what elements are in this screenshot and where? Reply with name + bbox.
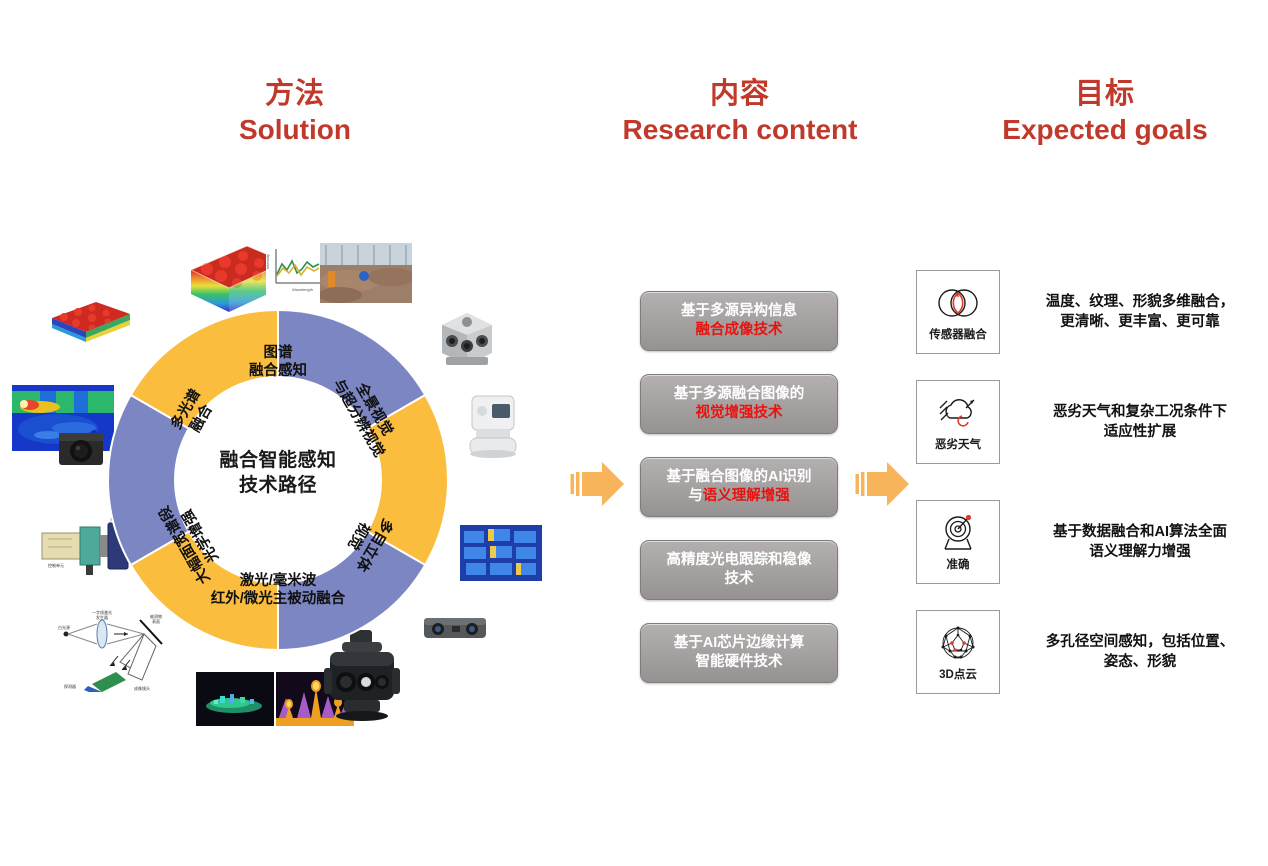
goal-text-point-cloud: 多孔径空间感知，包括位置、 姿态、形貌 [1024,632,1256,672]
goal-1-line2: 更清晰、更丰富、更可靠 [1024,312,1256,332]
research-box-4-line1: 高精度光电跟踪和稳像 [667,551,812,570]
rain-cloud-icon [936,393,980,433]
research-box-5-line1: 基于AI芯片边缘计算 [674,634,805,653]
research-box-fusion-imaging[interactable]: 基于多源异构信息 融合成像技术 [640,291,838,351]
target-dart-icon [937,513,979,553]
column-header-goals: 目标 Expected goals [955,78,1255,146]
research-box-2-line2: 视觉增强技术 [696,405,783,421]
column-header-content-en: Research content [575,114,905,146]
goal-3-line1: 基于数据融合和AI算法全面 [1024,522,1256,542]
goal-4-line2: 姿态、形貌 [1024,652,1256,672]
point-cloud-icon [937,623,979,663]
goal-icon-label-accuracy: 准确 [947,556,970,572]
goal-icon-label-bad-weather: 恶劣天气 [935,436,981,452]
research-box-tracking[interactable]: 高精度光电跟踪和稳像 技术 [640,540,838,600]
industrial-pipeline-photo [320,243,412,303]
goal-2-line2: 适应性扩展 [1024,422,1256,442]
goal-icon-card-sensor-fusion[interactable]: 传感器融合 [916,270,1000,354]
research-box-edge-computing[interactable]: 基于AI芯片边缘计算 智能硬件技术 [640,623,838,683]
column-header-content: 内容 Research content [575,78,905,146]
goal-icon-label-point-cloud: 3D点云 [939,666,977,682]
column-header-solution-en: Solution [170,114,420,146]
research-box-4-line2: 技术 [725,571,754,587]
research-box-3-line1: 基于融合图像的AI识别 [667,468,812,487]
arrow-solution-to-content [568,458,628,515]
svg-text:控制单元: 控制单元 [48,562,64,568]
goal-row-sensor-fusion: 传感器融合 温度、纹理、形貌多维融合， 更清晰、更丰富、更可靠 [916,266,1260,358]
structured-light-blue-image [460,525,542,581]
goal-row-bad-weather: 恶劣天气 恶劣天气和复杂工况条件下 适应性扩展 [916,376,1260,468]
svg-text:白光源: 白光源 [58,624,70,630]
research-box-visual-enhance[interactable]: 基于多源融合图像的 视觉增强技术 [640,374,838,434]
lidar-point-cloud-scene-image [196,672,274,726]
goal-text-sensor-fusion: 温度、纹理、形貌多维融合， 更清晰、更丰富、更可靠 [1024,292,1256,332]
donut-center-line1: 融合智能感知 [158,448,398,473]
technology-path-donut: 图谱 融合感知 全景视觉 与超分辨视觉 多目立体 视觉 激光/毫米波 红外/微光… [98,300,458,660]
arrow-content-to-goals [853,458,913,515]
goal-4-line1: 多孔径空间感知，包括位置、 [1024,632,1256,652]
research-box-ai-semantic[interactable]: 基于融合图像的AI识别 与语义理解增强 [640,457,838,517]
goal-icon-card-bad-weather[interactable]: 恶劣天气 [916,380,1000,464]
research-box-3-line2: 语义理解增强 [703,488,790,504]
column-header-goals-en: Expected goals [955,114,1255,146]
research-box-5-line2: 智能硬件技术 [696,654,783,670]
goal-1-line1: 温度、纹理、形貌多维融合， [1024,292,1256,312]
goal-icon-label-sensor-fusion: 传感器融合 [929,326,987,342]
donut-center-line2: 技术路径 [158,473,398,498]
research-box-3-line2-prefix: 与 [688,488,703,504]
column-header-goals-cn: 目标 [955,78,1255,112]
goal-text-accuracy: 基于数据融合和AI算法全面 语义理解力增强 [1024,522,1256,562]
goal-3-line2: 语义理解力增强 [1024,542,1256,562]
svg-text:探测器: 探测器 [64,683,76,689]
column-header-content-cn: 内容 [575,78,905,112]
column-header-solution-cn: 方法 [170,78,420,112]
svg-text:Wavelength: Wavelength [292,287,313,292]
svg-text:成像镜头: 成像镜头 [134,685,150,691]
goal-icon-card-accuracy[interactable]: 准确 [916,500,1000,584]
goal-2-line1: 恶劣天气和复杂工况条件下 [1024,402,1256,422]
diagram-canvas: 方法 Solution 内容 Research content 目标 Expec… [0,0,1268,866]
goal-text-bad-weather: 恶劣天气和复杂工况条件下 适应性扩展 [1024,402,1256,442]
column-header-solution: 方法 Solution [170,78,420,146]
goal-icon-card-point-cloud[interactable]: 3D点云 [916,610,1000,694]
spectrum-curve-plot-image: Intensity Wavelength [266,243,324,295]
venn-circles-icon [935,283,981,323]
goal-row-point-cloud: 3D点云 多孔径空间感知，包括位置、 姿态、形貌 [916,606,1260,698]
research-box-2-line1: 基于多源融合图像的 [674,385,805,404]
donut-center-label: 融合智能感知 技术路径 [158,448,398,498]
goal-row-accuracy: 准确 基于数据融合和AI算法全面 语义理解力增强 [916,496,1260,588]
white-gimbal-device-photo [462,390,524,460]
research-box-1-line1: 基于多源异构信息 [681,302,797,321]
research-box-1-line2: 融合成像技术 [696,322,783,338]
svg-text:Intensity: Intensity [266,254,270,269]
